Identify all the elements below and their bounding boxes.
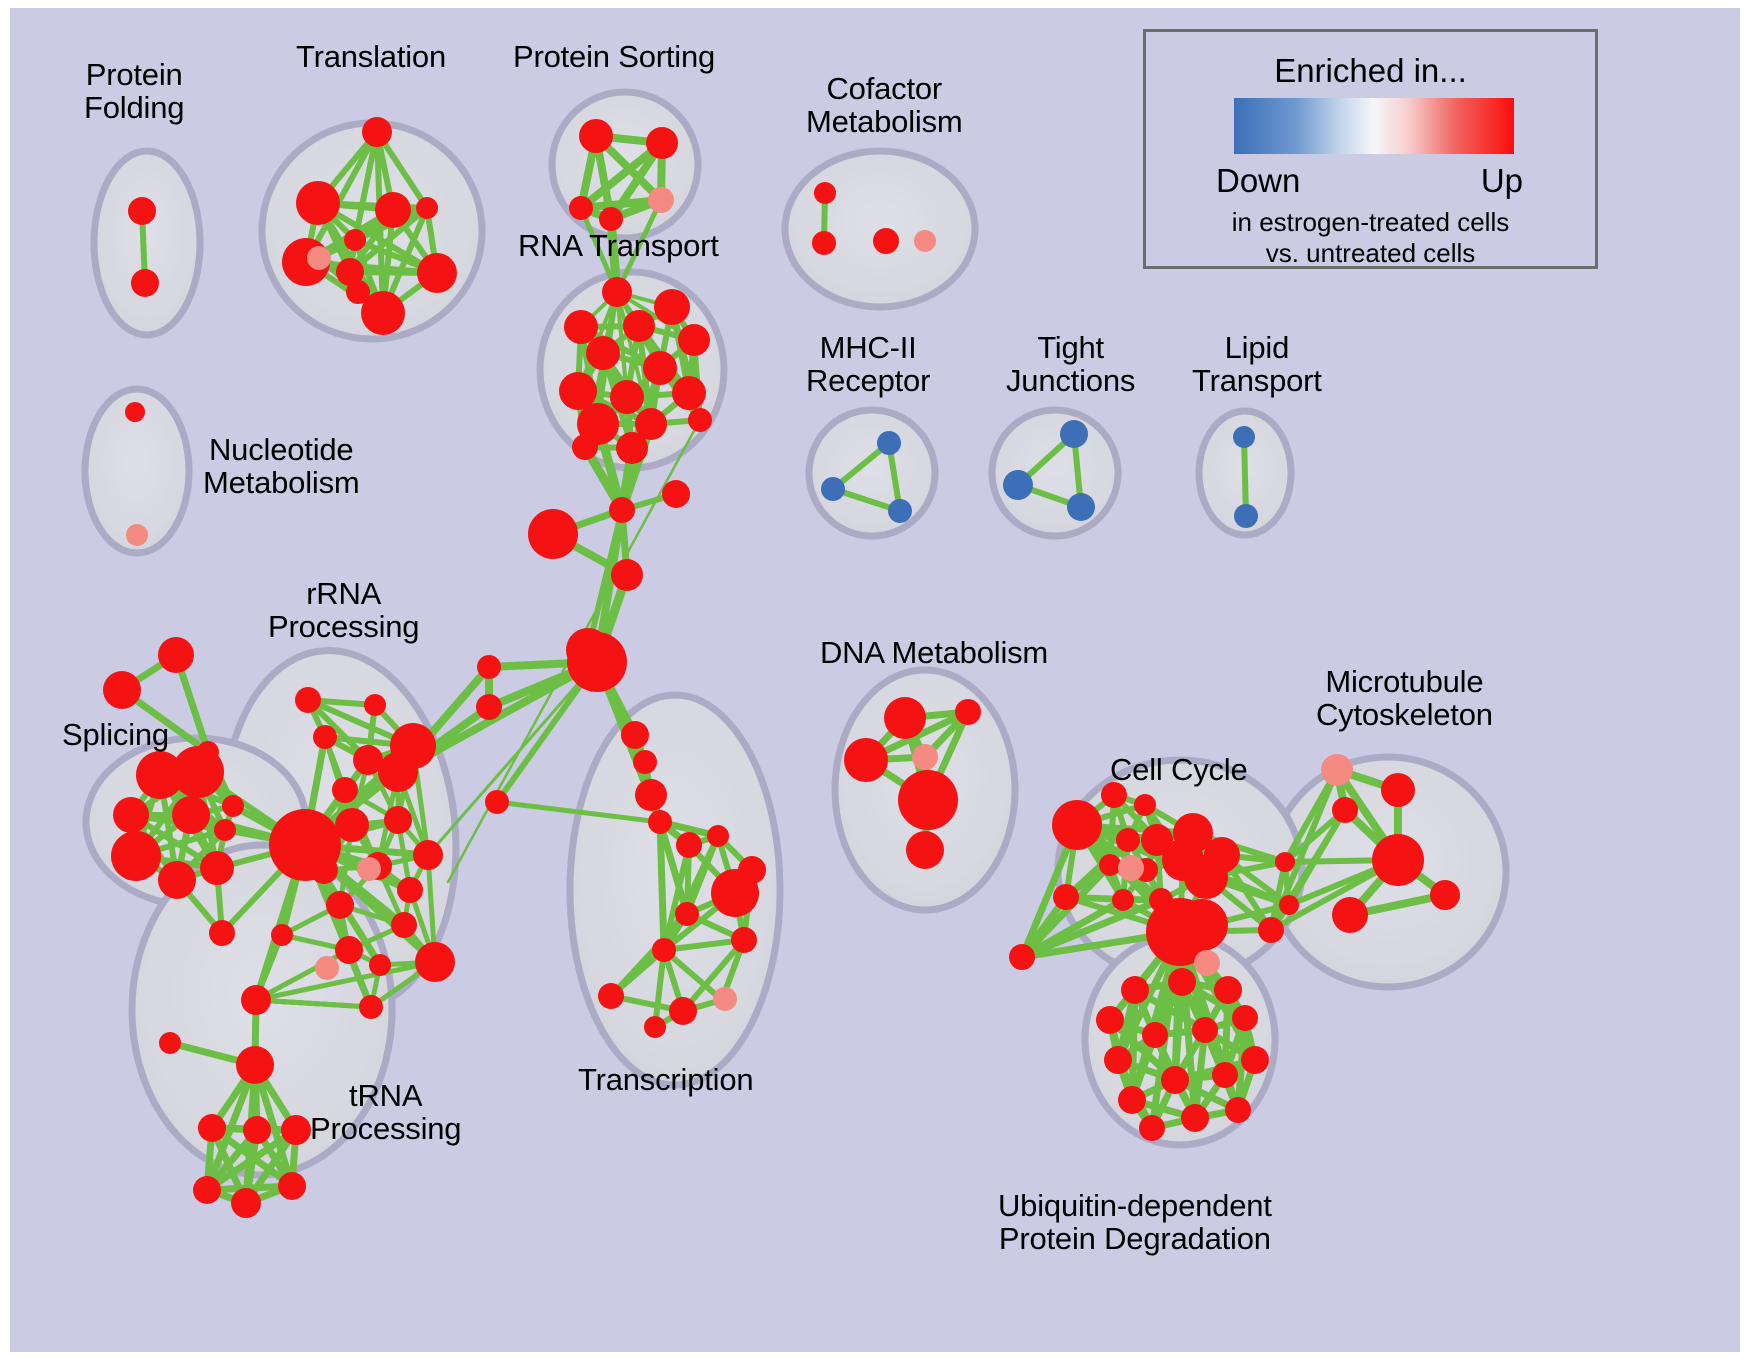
legend-subtitle-line1: in estrogen-treated cells (1146, 207, 1595, 238)
blob-mhc (809, 410, 935, 536)
legend-color-bar (1234, 98, 1514, 154)
legend-title: Enriched in... (1146, 52, 1595, 90)
cluster-label-transcription: Transcription (578, 1063, 753, 1096)
cluster-label-lipid-transport: Lipid Transport (1192, 331, 1322, 398)
cluster-label-ubiquitin-protein-degradation: Ubiquitin-dependent Protein Degradation (998, 1189, 1272, 1256)
blob-protein-folding (94, 151, 200, 335)
cluster-label-protein-folding: Protein Folding (84, 58, 184, 125)
cluster-label-dna-metabolism: DNA Metabolism (820, 636, 1048, 669)
legend-subtitle-line2: vs. untreated cells (1146, 238, 1595, 269)
cluster-label-microtubule-cytoskeleton: Microtubule Cytoskeleton (1316, 665, 1493, 732)
legend-box: Enriched in... Down Up in estrogen-treat… (1143, 29, 1598, 269)
cluster-label-nucleotide-metabolism: Nucleotide Metabolism (203, 433, 360, 500)
cluster-label-trna-processing: tRNA Processing (310, 1079, 461, 1146)
cluster-label-protein-sorting: Protein Sorting (513, 40, 715, 73)
figure-root: Protein Folding Translation Protein Sort… (0, 0, 1750, 1360)
cluster-label-rrna-processing: rRNA Processing (268, 577, 419, 644)
legend-down-label: Down (1216, 162, 1300, 200)
cluster-label-cofactor-metabolism: Cofactor Metabolism (806, 72, 963, 139)
cluster-label-cell-cycle: Cell Cycle (1110, 753, 1248, 786)
cluster-label-mhc-ii-receptor: MHC-II Receptor (806, 331, 930, 398)
cluster-label-translation: Translation (296, 40, 446, 73)
cluster-label-splicing: Splicing (62, 718, 169, 751)
cluster-label-rna-transport: RNA Transport (518, 229, 719, 262)
cluster-label-tight-junctions: Tight Junctions (1006, 331, 1135, 398)
legend-up-label: Up (1481, 162, 1523, 200)
blob-cofactor (785, 151, 975, 307)
